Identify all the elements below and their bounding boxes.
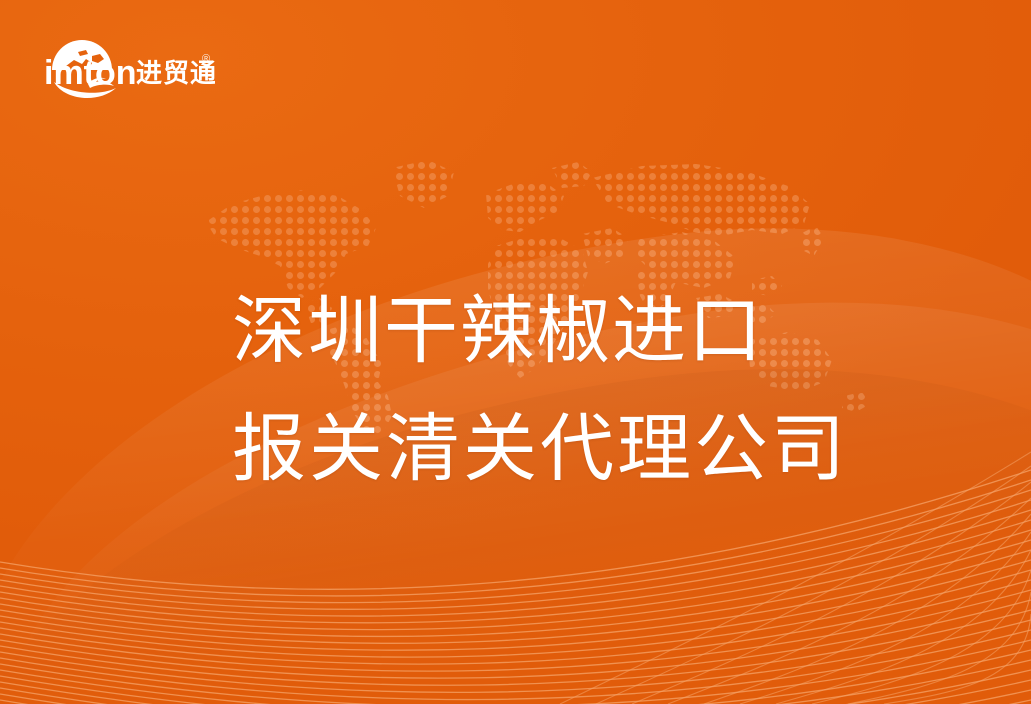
brand-logo[interactable]: imton 进贸通 ® xyxy=(40,26,215,104)
headline-line-2: 报关清关代理公司 xyxy=(232,390,932,508)
banner-canvas: imton 进贸通 ® 深圳干辣椒进口 报关清关代理公司 xyxy=(0,0,1031,704)
registered-mark-icon: ® xyxy=(202,53,210,65)
headline-block: 深圳干辣椒进口 报关清关代理公司 xyxy=(232,272,932,508)
headline-line-1: 深圳干辣椒进口 xyxy=(232,272,932,390)
logo-latin-name: imton xyxy=(44,54,137,92)
